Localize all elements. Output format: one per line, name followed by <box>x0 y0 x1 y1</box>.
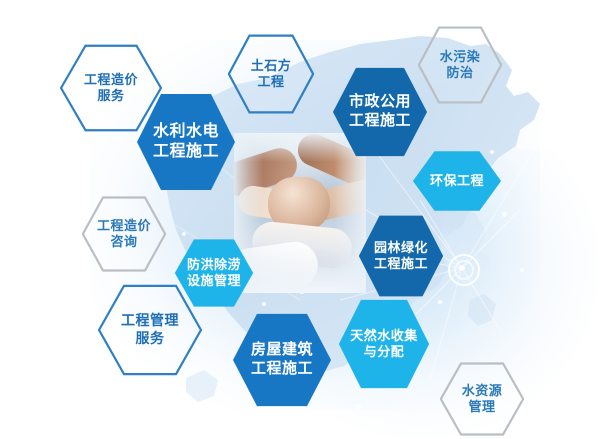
photo-sleeve <box>250 220 354 270</box>
network-dot <box>520 268 524 272</box>
hexagon-label: 防洪除涝 设施管理 <box>185 257 243 290</box>
hex-landscaping-engineering[interactable]: 园林绿化 工程施工 <box>358 214 444 298</box>
hexagon-label: 环保工程 <box>428 173 486 189</box>
hexagon-label: 水资源 管理 <box>460 383 505 416</box>
hexagon-label: 房屋建筑 工程施工 <box>249 341 315 379</box>
hexagon-label: 工程造价 咨询 <box>95 218 153 251</box>
hexagon-label: 工程管理 服务 <box>119 312 181 347</box>
hexagon-label: 市政公用 工程施工 <box>347 93 413 131</box>
hex-water-pollution-control[interactable]: 水污染 防治 <box>418 26 502 104</box>
hexagon-label: 水利水电 工程施工 <box>151 122 221 162</box>
hex-flood-control-drainage-facilities[interactable]: 防洪除涝 设施管理 <box>174 238 254 308</box>
network-dot <box>262 302 266 306</box>
hexagon-label: 土石方 工程 <box>249 58 294 91</box>
hex-earthwork-engineering[interactable]: 土石方 工程 <box>228 34 314 114</box>
network-dot <box>300 290 304 294</box>
network-dot <box>356 404 361 409</box>
network-dot <box>502 212 507 217</box>
hex-building-construction[interactable]: 房屋建筑 工程施工 <box>232 312 332 408</box>
hexagon-label: 水污染 防治 <box>438 49 483 82</box>
hex-engineering-cost-consulting[interactable]: 工程造价 咨询 <box>82 196 166 272</box>
hex-municipal-public-works[interactable]: 市政公用 工程施工 <box>332 66 428 158</box>
photo-arm <box>236 184 313 224</box>
network-dot <box>182 232 186 236</box>
infographic-canvas: 工程造价 服务土石方 工程水污染 防治市政公用 工程施工水利水电 工程施工环保工… <box>0 0 600 439</box>
hexagon-label: 工程造价 服务 <box>82 72 140 105</box>
photo-hands-center <box>268 177 330 231</box>
hexagon-label: 园林绿化 工程施工 <box>372 240 430 273</box>
hexagon-label: 天然水收集 与分配 <box>348 328 420 361</box>
hex-environmental-engineering[interactable]: 环保工程 <box>412 150 502 212</box>
network-dot <box>438 300 442 304</box>
hex-natural-water-collection-distribution[interactable]: 天然水收集 与分配 <box>338 298 430 390</box>
network-hub-ring <box>448 254 480 286</box>
photo-arm <box>302 176 366 224</box>
network-hub-ring-inner <box>454 260 474 280</box>
hex-water-conservancy-hydropower[interactable]: 水利水电 工程施工 <box>136 92 236 192</box>
photo-arm <box>234 144 301 200</box>
hex-water-resources-management[interactable]: 水资源 管理 <box>440 362 524 436</box>
network-dot <box>459 265 465 271</box>
network-dot <box>330 236 335 241</box>
